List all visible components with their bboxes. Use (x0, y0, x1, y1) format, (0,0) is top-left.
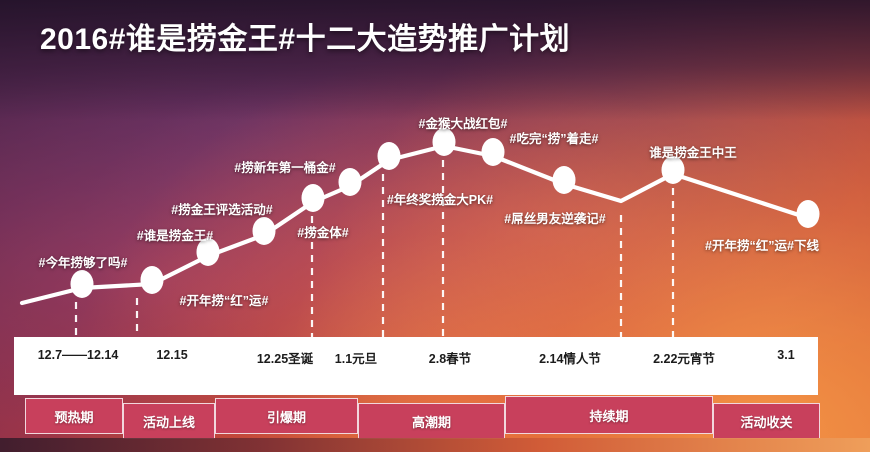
node-label: #金猴大战红包# (419, 113, 508, 132)
date-axis-panel: 12.7——12.1412.1512.25圣诞1.1元旦2.8春节2.14情人节… (14, 337, 818, 395)
data-point-marker[interactable] (339, 168, 362, 196)
phase-bar[interactable]: 活动收关 (713, 403, 820, 439)
date-tick-4: 2.8春节 (429, 348, 471, 367)
node-label: #吃完“捞”着走# (510, 128, 599, 147)
phase-bar[interactable]: 引爆期 (215, 398, 358, 434)
data-point-marker[interactable] (302, 184, 325, 212)
date-tick-3: 1.1元旦 (335, 348, 377, 367)
node-label: #捞金王评选活动# (171, 199, 272, 218)
data-point-marker[interactable] (797, 200, 820, 228)
data-point-marker[interactable] (378, 142, 401, 170)
phase-bar[interactable]: 预热期 (25, 398, 123, 434)
date-tick-6: 2.22元宵节 (653, 348, 715, 367)
data-point-marker[interactable] (482, 138, 505, 166)
date-tick-5: 2.14情人节 (539, 348, 601, 367)
node-label: #捞新年第一桶金# (234, 157, 335, 176)
date-tick-2: 12.25圣诞 (257, 348, 313, 367)
node-label: #今年捞够了吗# (39, 252, 128, 271)
node-label: 谁是捞金王中王 (649, 142, 737, 161)
node-label: #开年捞“红”运# (180, 290, 269, 309)
dashed-guide-lines (76, 160, 673, 337)
infographic-canvas: 2016#谁是捞金王#十二大造势推广计划 #今年捞够了吗##开年捞“红”运##谁… (0, 0, 870, 452)
data-point-marker[interactable] (141, 266, 164, 294)
phase-bar[interactable]: 高潮期 (358, 403, 505, 439)
data-point-marker[interactable] (433, 128, 456, 156)
data-point-marker[interactable] (553, 166, 576, 194)
date-tick-7: 3.1 (777, 348, 794, 362)
data-point-marker[interactable] (253, 217, 276, 245)
date-tick-0: 12.7——12.14 (38, 348, 119, 362)
phase-bar[interactable]: 持续期 (505, 396, 713, 434)
phase-bar[interactable]: 活动上线 (123, 403, 215, 439)
node-label: #开年捞“红”运#下线 (705, 235, 819, 254)
node-label: #谁是捞金王# (137, 225, 213, 244)
node-label: #年终奖捞金大PK# (387, 189, 493, 208)
node-label: #捞金体# (297, 222, 348, 241)
data-point-marker[interactable] (71, 270, 94, 298)
footer-strip (0, 438, 870, 452)
node-label: #屌丝男友逆袭记# (504, 208, 605, 227)
date-tick-1: 12.15 (156, 348, 187, 362)
